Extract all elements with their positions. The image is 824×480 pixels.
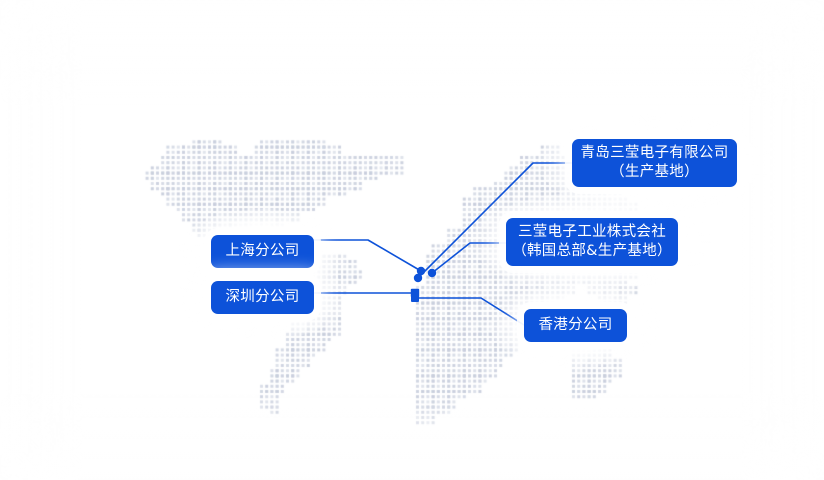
map-infographic: 青岛三莹电子有限公司（生产基地）三莹电子工业株式会社（韩国总部&生产基地）上海分…: [0, 0, 824, 480]
label-shanghai-line-1: 上海分公司: [226, 242, 300, 261]
label-hongkong-line-1: 香港分公司: [539, 316, 613, 335]
label-shenzhen[interactable]: 深圳分公司: [211, 281, 314, 314]
label-shanghai[interactable]: 上海分公司: [211, 235, 314, 268]
world-map-dots: [0, 0, 824, 480]
label-qingdao-line-1: 青岛三莹电子有限公司: [581, 144, 729, 163]
label-korea-headquarters[interactable]: 三莹电子工业株式会社（韩国总部&生产基地）: [506, 218, 678, 266]
label-korea-headquarters-line-1: 三莹电子工业株式会社: [518, 223, 666, 242]
label-shenzhen-line-1: 深圳分公司: [226, 288, 300, 307]
label-korea-headquarters-line-2: （韩国总部&生产基地）: [512, 242, 672, 261]
label-qingdao[interactable]: 青岛三莹电子有限公司（生产基地）: [572, 139, 737, 187]
label-hongkong[interactable]: 香港分公司: [524, 309, 627, 342]
label-qingdao-line-2: （生产基地）: [610, 163, 699, 182]
world-map: [0, 0, 824, 480]
